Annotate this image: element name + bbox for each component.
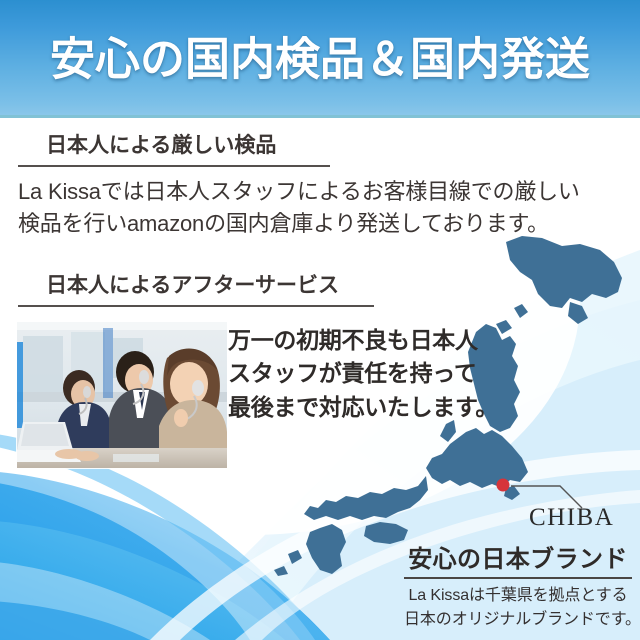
inspection-body-line-2: 検品を行いamazonの国内倉庫より発送しております。 [18,208,618,239]
brand-block: 安心の日本ブランド La Kissaは千葉県を拠点とする 日本のオリジナルブラン… [404,546,632,632]
section-after-service: 日本人によるアフターサービス [18,272,498,307]
brand-description: La Kissaは千葉県を拠点とする 日本のオリジナルブランドです。 [404,584,632,631]
header-banner: 安心の国内検品＆国内発送 [0,0,640,118]
inspection-body-line-1: La Kissaでは日本人スタッフによるお客様目線での厳しい [18,176,618,207]
after-service-callout-line-2: スタッフが責任を持って [228,357,498,390]
after-service-callout-line-3: 最後まで対応いたします。 [228,391,498,424]
chiba-location-marker [497,479,510,492]
brand-description-line-2: 日本のオリジナルブランドです。 [404,608,632,632]
product-infographic: 安心の国内検品＆国内発送 [0,0,640,640]
section-inspection: 日本人による厳しい検品 La Kissaでは日本人スタッフによるお客様目線での厳… [18,132,618,239]
after-service-callout: 万一の初期不良も日本人 スタッフが責任を持って 最後まで対応いたします。 [228,324,498,424]
chiba-region-label: CHIBA [529,505,614,530]
call-center-photo [17,322,227,468]
after-service-callout-line-1: 万一の初期不良も日本人 [228,324,498,357]
brand-description-line-1: La Kissaは千葉県を拠点とする [404,584,632,608]
inspection-body: La Kissaでは日本人スタッフによるお客様目線での厳しい 検品を行いamaz… [18,176,618,238]
brand-title: 安心の日本ブランド [404,546,632,574]
page-title: 安心の国内検品＆国内発送 [0,37,640,82]
inspection-heading: 日本人による厳しい検品 [18,132,618,164]
brand-title-underline [404,577,632,579]
after-service-heading: 日本人によるアフターサービス [18,272,498,304]
after-service-heading-underline [18,305,374,307]
inspection-heading-underline [18,165,330,167]
